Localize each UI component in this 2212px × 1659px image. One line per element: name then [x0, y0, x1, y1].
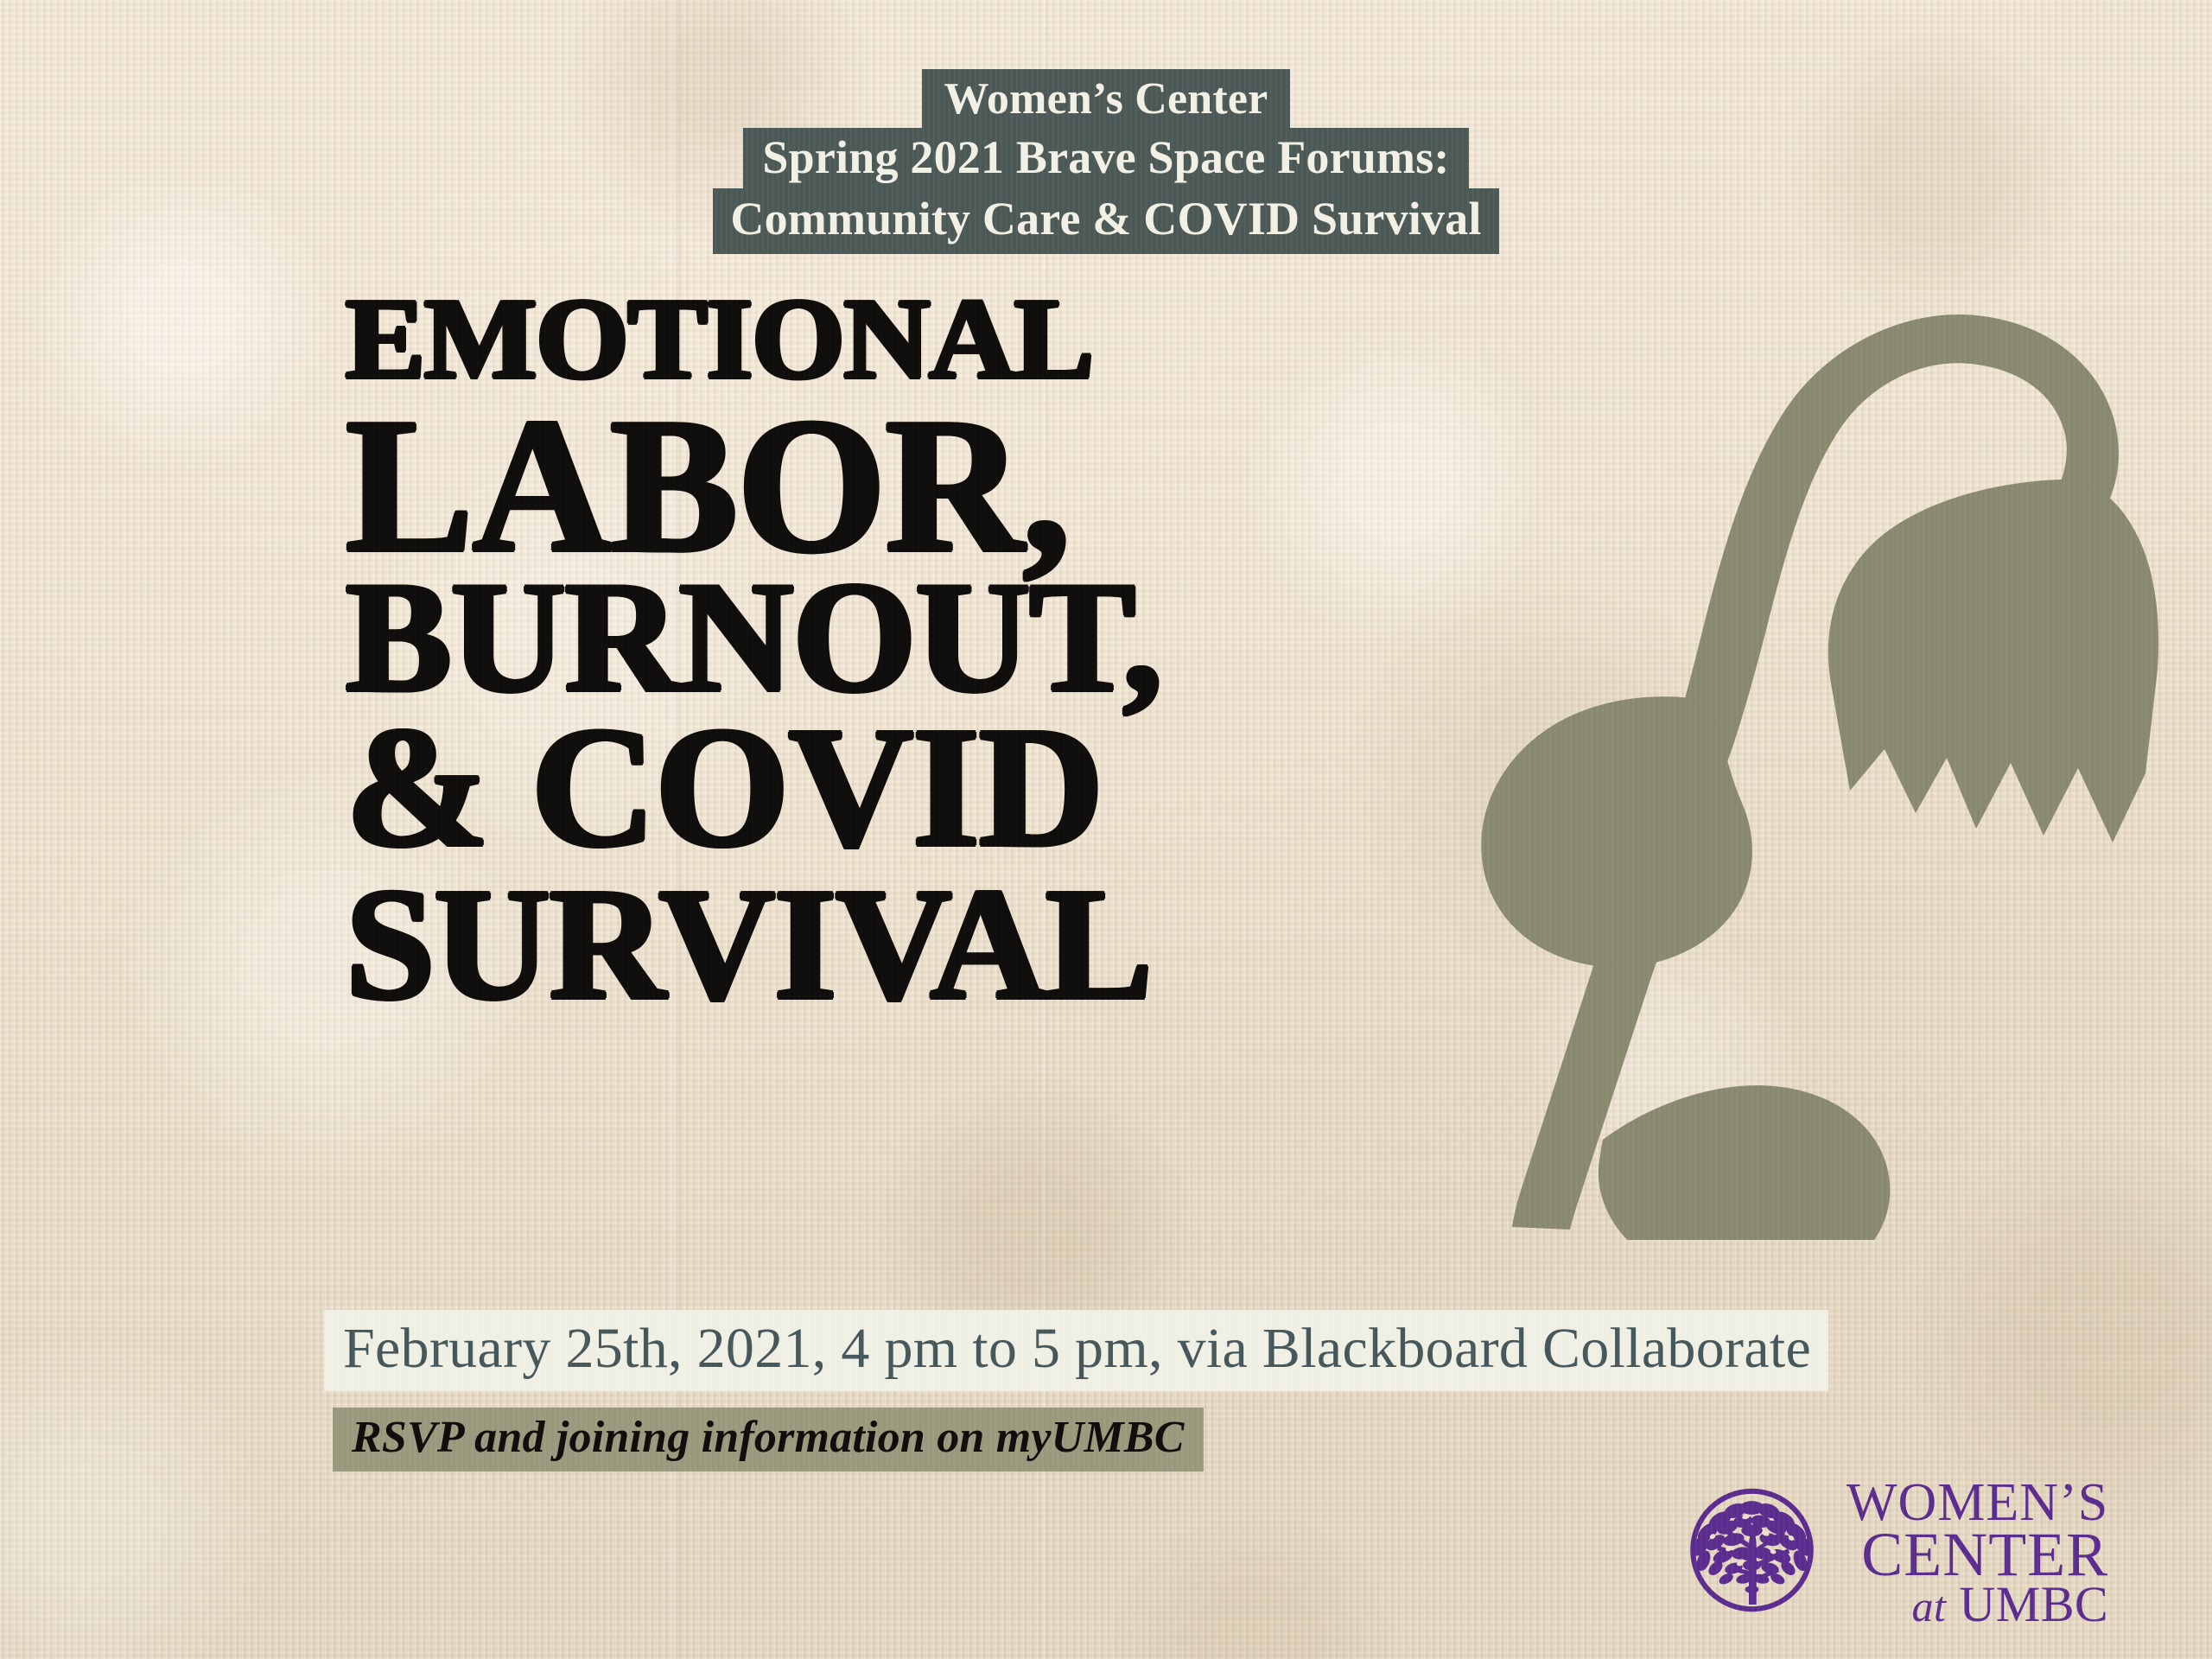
event-date-time-platform: February 25th, 2021, 4 pm to 5 pm, via B… — [343, 1317, 1811, 1380]
title-line-1: EMOTIONAL — [346, 285, 1395, 393]
logo-wordmark: WOMEN’S CENTER at UMBC — [1847, 1478, 2108, 1628]
rsvp-bar: RSVP and joining information on myUMBC — [333, 1408, 1204, 1471]
title-line-4: & COVID — [346, 714, 1365, 862]
header-line-organization: Women’s Center — [922, 69, 1291, 128]
poster-canvas: Women’s Center Spring 2021 Brave Space F… — [0, 0, 2212, 1659]
wilting-flower-icon — [1335, 186, 2164, 1240]
title-line-3: BURNOUT, — [346, 569, 1365, 705]
logo-at-word: at — [1911, 1582, 1946, 1630]
page-title: EMOTIONAL LABOR, BURNOUT, & COVID SURVIV… — [346, 285, 1365, 1016]
tree-in-circle-icon — [1676, 1478, 1827, 1629]
header-line-subtitle: Community Care & COVID Survival — [713, 188, 1498, 254]
logo-umbc-word: UMBC — [1959, 1576, 2108, 1632]
event-details-bar: February 25th, 2021, 4 pm to 5 pm, via B… — [324, 1310, 1828, 1391]
womens-center-logo: WOMEN’S CENTER at UMBC — [1676, 1460, 2160, 1646]
logo-line-at-umbc: at UMBC — [1911, 1581, 2108, 1627]
logo-line-center: CENTER — [1861, 1526, 2108, 1583]
title-line-5: SURVIVAL — [346, 874, 1365, 1016]
header-line-series: Spring 2021 Brave Space Forums: — [743, 128, 1468, 188]
rsvp-instruction: RSVP and joining information on myUMBC — [352, 1413, 1185, 1462]
header-banner: Women’s Center Spring 2021 Brave Space F… — [0, 69, 2212, 254]
title-line-2: LABOR, — [346, 409, 1355, 563]
